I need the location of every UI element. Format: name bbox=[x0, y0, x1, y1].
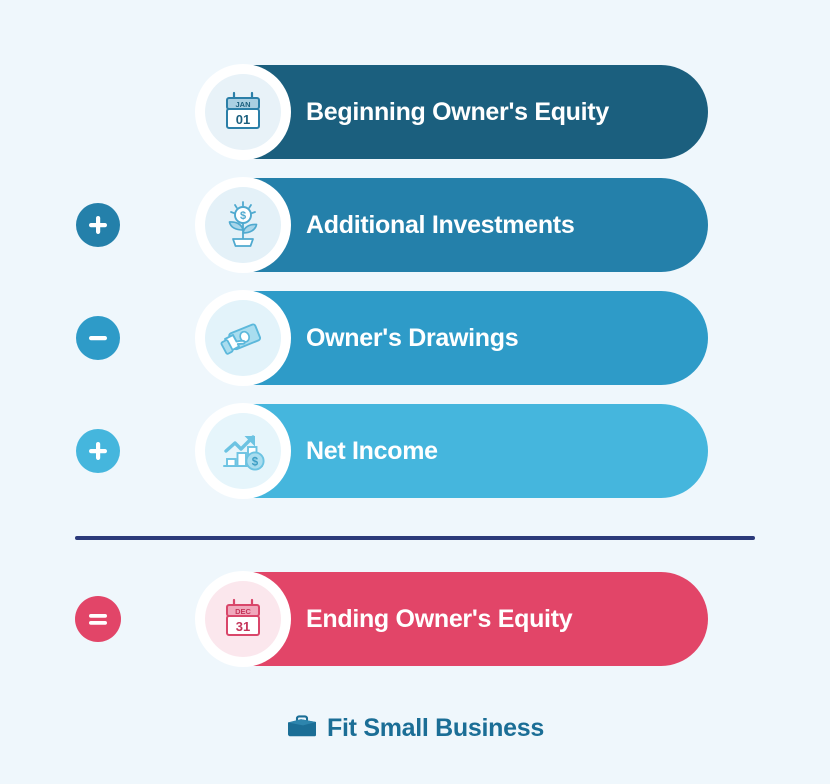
icon-circle-beginning: JAN 01 bbox=[195, 64, 291, 160]
owners-equity-infographic: JAN 01 Beginning Owner's Equity bbox=[0, 0, 830, 784]
icon-circle-net-income: $ bbox=[195, 403, 291, 499]
svg-text:DEC: DEC bbox=[235, 607, 251, 616]
briefcase-icon bbox=[286, 713, 318, 744]
operator-slot-plus-2 bbox=[0, 403, 196, 499]
plus-icon bbox=[76, 429, 120, 473]
pill-owners-drawings[interactable]: Owner's Drawings bbox=[196, 291, 708, 385]
equity-row-owners-drawings: Owner's Drawings bbox=[0, 290, 830, 386]
svg-text:JAN: JAN bbox=[235, 100, 250, 109]
svg-text:$: $ bbox=[252, 456, 259, 468]
equation-divider bbox=[75, 536, 755, 540]
equity-row-net-income: $ Net Income bbox=[0, 403, 830, 499]
pill-beginning-owners-equity[interactable]: JAN 01 Beginning Owner's Equity bbox=[196, 65, 708, 159]
brand-name: Fit Small Business bbox=[327, 714, 544, 743]
equals-icon bbox=[75, 596, 121, 642]
icon-circle-owners-drawings bbox=[195, 290, 291, 386]
operator-slot-minus bbox=[0, 290, 196, 386]
icon-circle-additional-investments: $ bbox=[195, 177, 291, 273]
icon-circle-ending: DEC 31 bbox=[195, 571, 291, 667]
hand-cash-icon bbox=[205, 300, 281, 376]
money-plant-icon: $ bbox=[205, 187, 281, 263]
pill-label-additional-investments: Additional Investments bbox=[306, 211, 574, 240]
growth-chart-dollar-icon: $ bbox=[205, 413, 281, 489]
operator-slot-empty bbox=[0, 64, 196, 160]
pill-net-income[interactable]: $ Net Income bbox=[196, 404, 708, 498]
pill-label-beginning: Beginning Owner's Equity bbox=[306, 98, 609, 127]
calendar-jan-icon: JAN 01 bbox=[205, 74, 281, 150]
operator-slot-equals bbox=[0, 571, 196, 667]
svg-text:01: 01 bbox=[236, 112, 250, 127]
equity-row-additional-investments: $ Additional Investments bbox=[0, 177, 830, 273]
pill-label-net-income: Net Income bbox=[306, 437, 438, 466]
brand-logo: Fit Small Business bbox=[0, 713, 830, 744]
pill-label-ending: Ending Owner's Equity bbox=[306, 605, 572, 634]
svg-text:31: 31 bbox=[236, 619, 250, 634]
svg-text:$: $ bbox=[240, 210, 246, 222]
operator-slot-plus-1 bbox=[0, 177, 196, 273]
pill-label-owners-drawings: Owner's Drawings bbox=[306, 324, 518, 353]
pill-additional-investments[interactable]: $ Additional Investments bbox=[196, 178, 708, 272]
equity-row-ending: DEC 31 Ending Owner's Equity bbox=[0, 571, 830, 667]
minus-icon bbox=[76, 316, 120, 360]
equity-row-beginning: JAN 01 Beginning Owner's Equity bbox=[0, 64, 830, 160]
plus-icon bbox=[76, 203, 120, 247]
calendar-dec-icon: DEC 31 bbox=[205, 581, 281, 657]
pill-ending-owners-equity[interactable]: DEC 31 Ending Owner's Equity bbox=[196, 572, 708, 666]
